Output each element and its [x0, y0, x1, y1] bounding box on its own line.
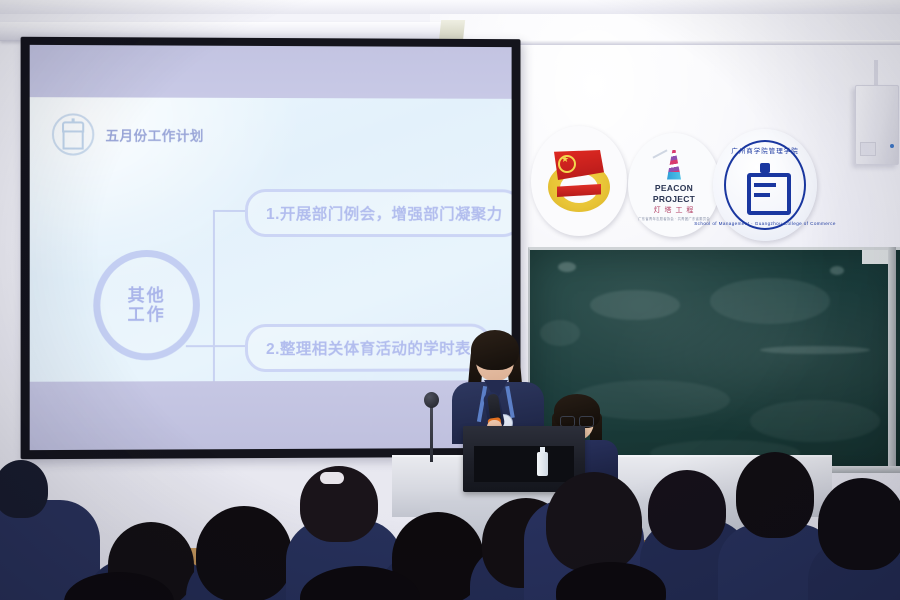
peacon-fineprint: 广东省青年志愿者协会 · 共青团广东省委员会 — [638, 216, 710, 221]
crest-stem — [72, 118, 75, 123]
audience-head — [546, 472, 642, 572]
emblem-text-cn: 广州商学院管理学院 — [731, 145, 799, 155]
electrical-box-led — [890, 144, 894, 148]
presenter-hair — [471, 330, 519, 370]
connector-stub — [186, 345, 214, 347]
letterbox-band-top — [30, 45, 512, 99]
crest-bar-1 — [754, 183, 776, 187]
pull-down-projection-screen: 五月份工作计划 其他 工作 1.开展部门例会，增强部门凝聚力 2.整理相关体育活… — [21, 37, 521, 459]
center-node-line2: 工作 — [128, 305, 166, 324]
communist-youth-league-emblem — [531, 126, 627, 236]
lecture-hall-photo: 五月份工作计划 其他 工作 1.开展部门例会，增强部门凝聚力 2.整理相关体育活… — [0, 0, 900, 600]
audience-head — [736, 452, 814, 538]
center-node-line1: 其他 — [128, 286, 166, 305]
star-icon — [558, 155, 576, 173]
peacon-title-line1: PEACON — [655, 183, 693, 193]
hair-clip — [320, 472, 344, 484]
peacon-subtitle-cn: 灯 塔 工 程 — [654, 205, 695, 215]
ceiling-trim — [0, 0, 900, 14]
connector-spine — [213, 210, 215, 382]
audience-head — [818, 478, 900, 570]
lighthouse-base — [667, 172, 681, 180]
desk-microphone — [424, 392, 439, 408]
slide-item-2: 2.整理相关体育活动的学时表 — [245, 324, 492, 372]
chalkboard-right-edge — [888, 247, 896, 469]
slide-item-1: 1.开展部门例会，增强部门凝聚力 — [245, 189, 512, 237]
presentation-slide: 五月份工作计划 其他 工作 1.开展部门例会，增强部门凝聚力 2.整理相关体育活… — [30, 97, 512, 382]
audience-head — [0, 460, 48, 518]
connector-branch-1 — [213, 210, 245, 212]
slide-center-node: 其他 工作 — [93, 250, 200, 360]
school-crest-icon — [52, 113, 94, 155]
projection-surface: 五月份工作计划 其他 工作 1.开展部门例会，增强部门凝聚力 2.整理相关体育活… — [30, 45, 512, 450]
wall-rail — [455, 40, 900, 45]
peacon-title-line2: PROJECT — [653, 194, 695, 204]
hand-sanitizer-bottle — [537, 452, 548, 476]
lighthouse-ray — [652, 149, 667, 158]
lighthouse-tower — [668, 150, 680, 174]
emblem-ring: 广州商学院管理学院 School of Management · Guangzh… — [724, 140, 806, 230]
flag-star-gear-icon — [544, 146, 614, 216]
slide-header: 五月份工作计划 — [52, 113, 204, 156]
audience-head — [196, 506, 292, 600]
eyeglasses-icon — [560, 416, 594, 425]
emblem-text-en: School of Management · Guangzhou College… — [694, 221, 836, 226]
wall-electrical-box — [855, 85, 899, 165]
letterbox-band-bottom — [30, 380, 512, 450]
electrical-box-slot — [860, 142, 876, 156]
slide-title: 五月份工作计划 — [105, 125, 204, 145]
crest-bar-2 — [754, 193, 770, 197]
monitor-screen — [474, 446, 574, 482]
school-crest-icon — [745, 161, 785, 209]
audience-head — [648, 470, 726, 550]
lighthouse-icon — [659, 150, 689, 182]
connector-branch-2 — [213, 345, 245, 347]
school-of-management-emblem: 广州商学院管理学院 School of Management · Guangzh… — [713, 129, 817, 241]
conduit-pipe — [874, 60, 878, 88]
